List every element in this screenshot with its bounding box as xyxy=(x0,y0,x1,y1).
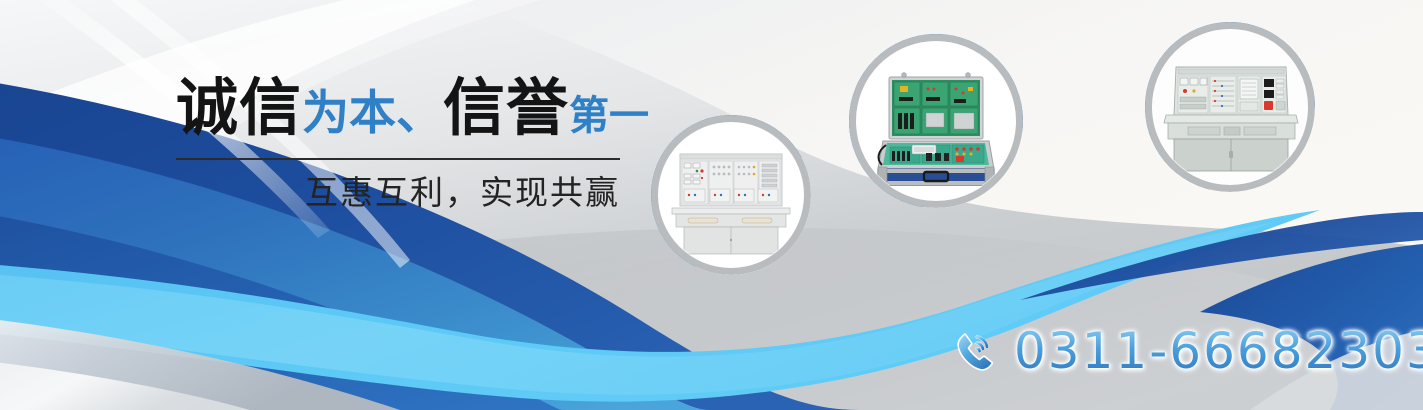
headline-part-2: 为本、 xyxy=(302,86,443,141)
product-photo-3[interactable] xyxy=(1145,22,1315,192)
product-image-control-bench xyxy=(1152,29,1308,185)
headline-divider xyxy=(176,158,620,160)
headline-part-4: 第一 xyxy=(569,93,649,139)
headline-block: 诚信为本、信誉第一 互惠互利，实现共赢 xyxy=(176,72,626,213)
headline-part-3: 信誉 xyxy=(443,71,569,144)
phone-number[interactable]: 0311-66682303 xyxy=(1014,324,1423,378)
product-image-training-case xyxy=(856,41,1016,201)
headline-part-1: 诚信 xyxy=(176,71,302,144)
product-photo-2[interactable] xyxy=(849,34,1023,208)
product-photo-1[interactable] xyxy=(651,115,811,275)
subtitle: 互惠互利，实现共赢 xyxy=(176,173,620,213)
contact-phone-block[interactable]: 0311-66682303 0311-66682303 xyxy=(952,324,1423,378)
phone-call-icon xyxy=(952,327,1000,375)
promotional-banner: 诚信为本、信誉第一 互惠互利，实现共赢 xyxy=(0,0,1423,410)
product-image-workbench xyxy=(658,122,804,268)
page-title: 诚信为本、信誉第一 xyxy=(176,72,626,152)
